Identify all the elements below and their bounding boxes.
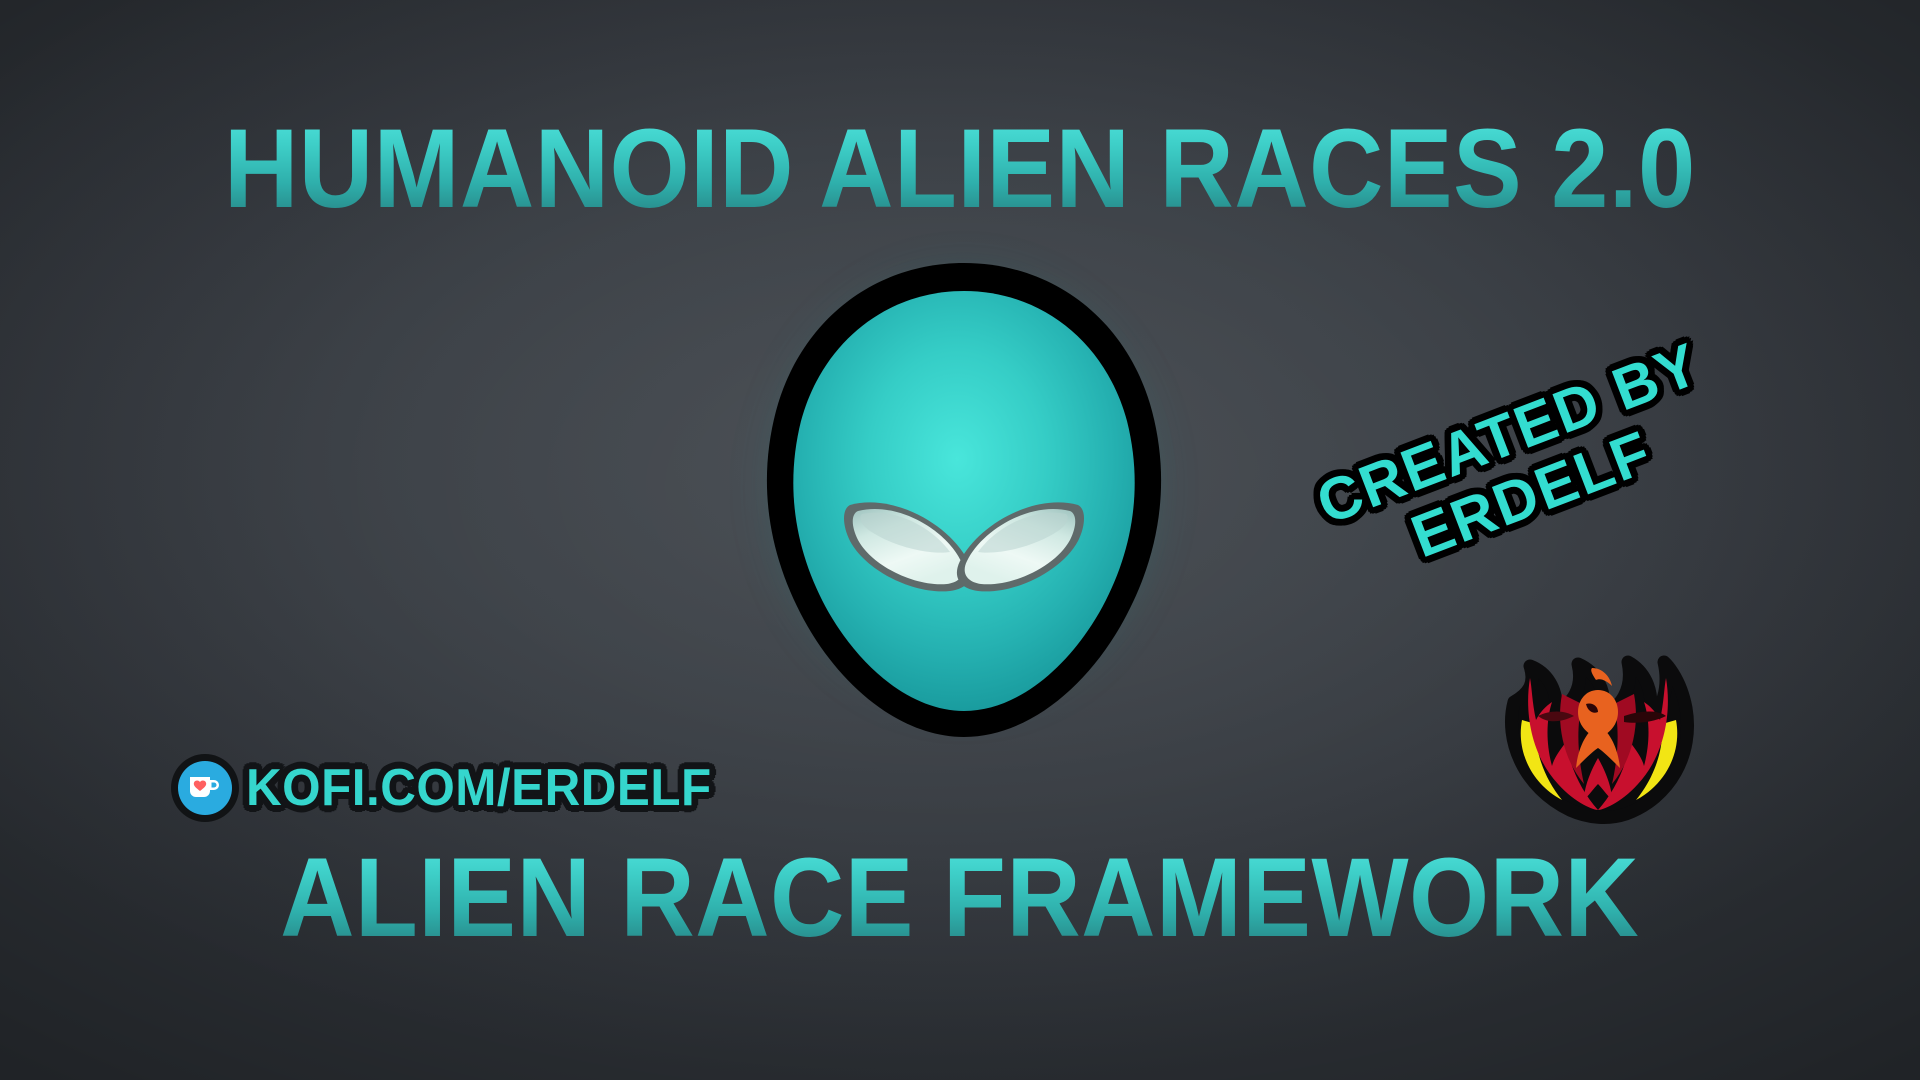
- kofi-link[interactable]: KOFI.COM/ERDELF: [178, 758, 736, 818]
- page-title-bottom-label: ALIEN RACE FRAMEWORK: [280, 842, 1639, 954]
- kofi-cup-heart-icon[interactable]: [178, 761, 232, 815]
- alien-head-graphic: [754, 255, 1174, 745]
- kofi-link-label[interactable]: KOFI.COM/ERDELF: [246, 758, 712, 818]
- banner-canvas: HUMANOID ALIEN RACES 2.0 HUMANOID ALIEN …: [0, 0, 1920, 1080]
- page-title-bottom: ALIEN RACE FRAMEWORK ALIEN RACE FRAMEWOR…: [0, 842, 1920, 954]
- phoenix-logo-icon: [1478, 628, 1718, 838]
- alien-head-icon: [754, 255, 1174, 745]
